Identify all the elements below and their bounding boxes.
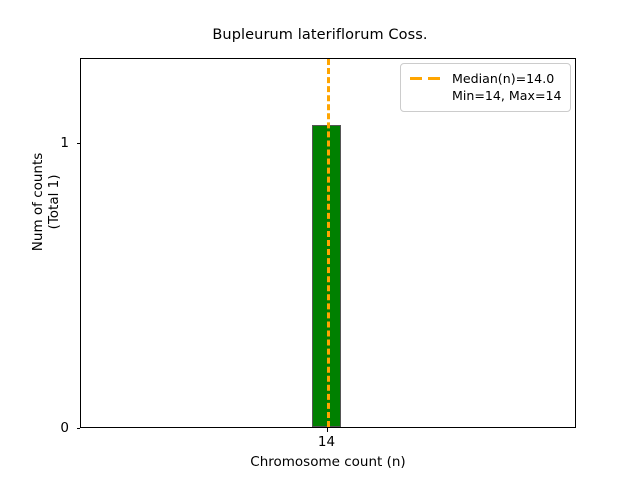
legend-minmax-label: Min=14, Max=14 <box>452 87 562 104</box>
chart-figure: Bupleurum lateriflorum Coss. Num of coun… <box>0 0 640 480</box>
x-axis-label: Chromosome count (n) <box>80 454 576 470</box>
median-line <box>327 59 330 427</box>
chart-title: Bupleurum lateriflorum Coss. <box>0 27 640 43</box>
legend-dashed-line-icon <box>409 70 443 87</box>
y-axis-label-line2: (Total 1) <box>47 52 63 352</box>
legend-entry-text: Median(n)=14.0 Min=14, Max=14 <box>452 70 562 104</box>
x-tick-mark-14 <box>327 428 328 432</box>
legend-median-label: Median(n)=14.0 <box>452 70 562 87</box>
plot-area <box>80 58 576 428</box>
y-axis-label: Num of counts (Total 1) <box>31 52 63 352</box>
legend[interactable]: Median(n)=14.0 Min=14, Max=14 <box>400 63 571 112</box>
y-tick-label-1: 1 <box>9 135 69 151</box>
y-tick-label-0: 0 <box>9 420 69 436</box>
y-tick-mark-0 <box>77 428 81 429</box>
x-tick-label-14: 14 <box>287 434 367 450</box>
y-axis-label-line1: Num of counts <box>31 52 47 352</box>
legend-entry-median: Median(n)=14.0 Min=14, Max=14 <box>409 70 562 104</box>
